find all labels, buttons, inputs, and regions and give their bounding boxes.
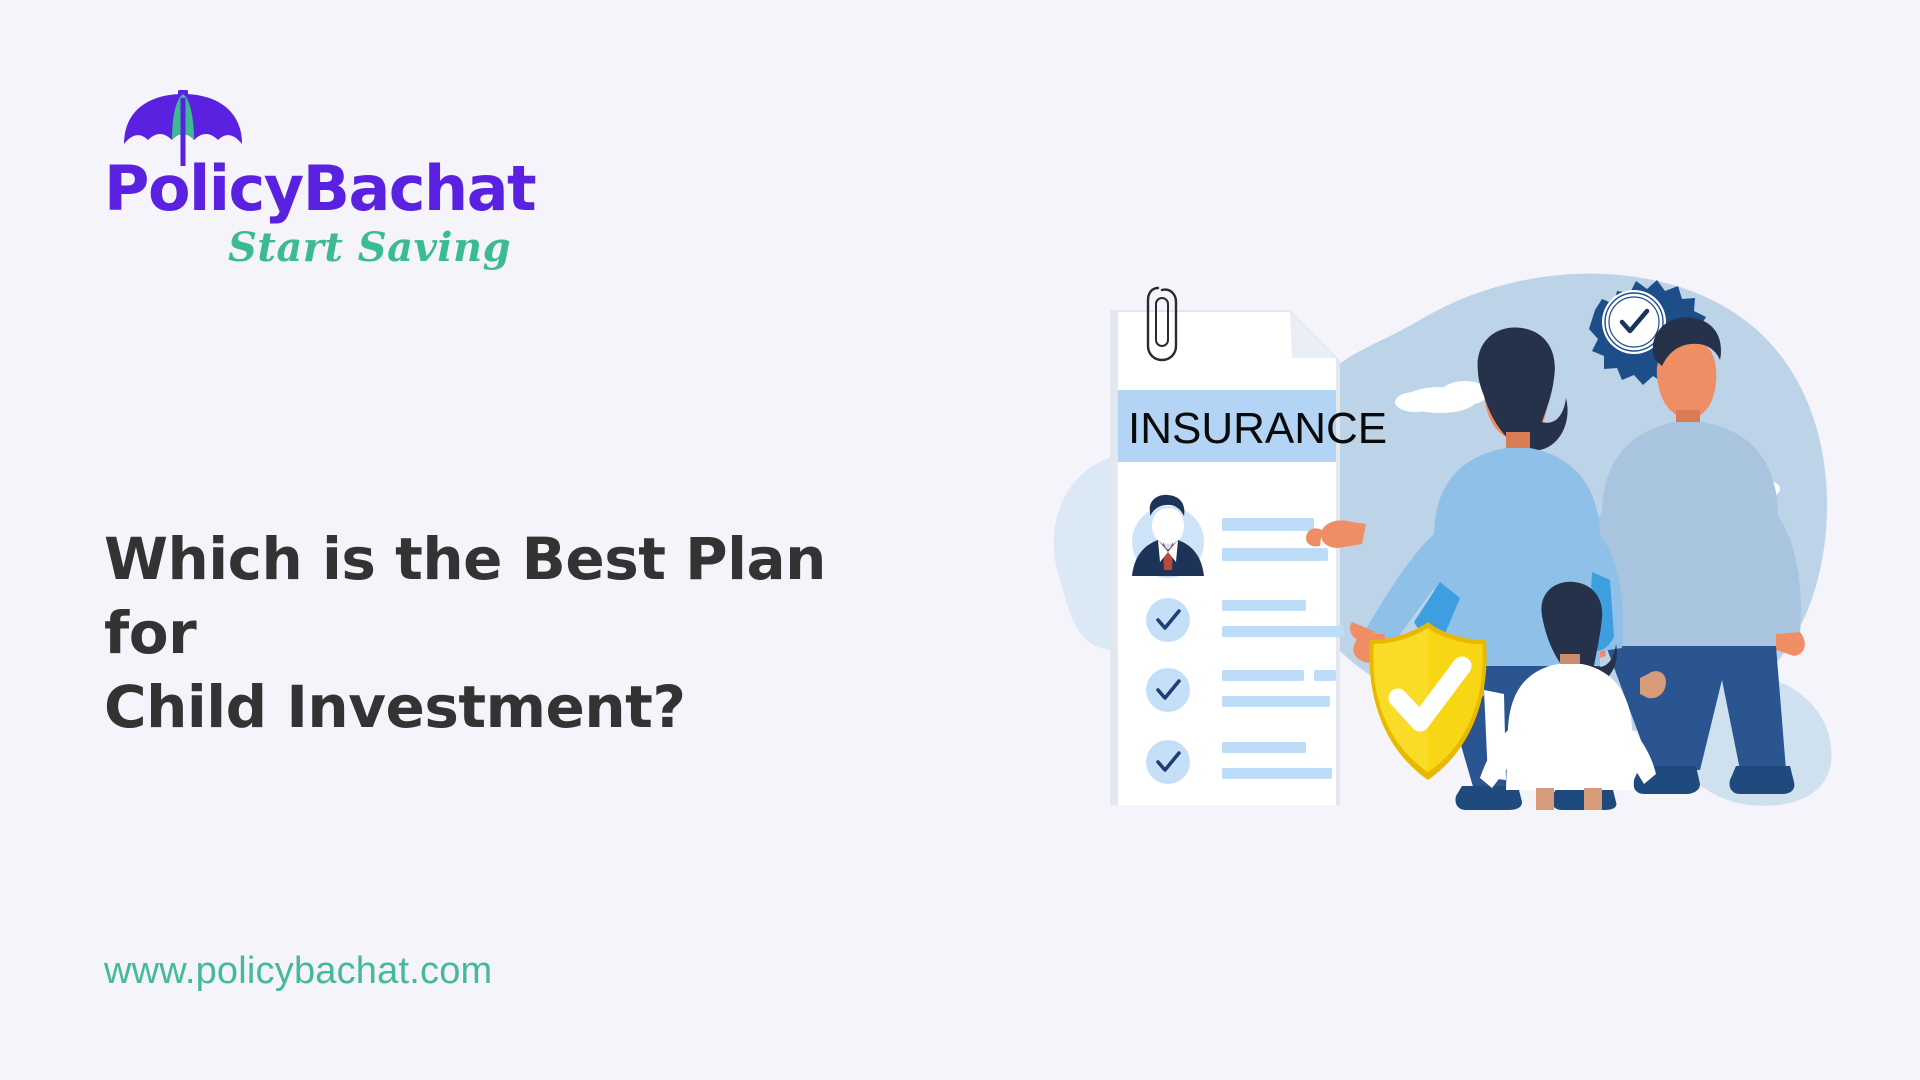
insurance-family-illustration: INSURANCE xyxy=(1000,250,1900,810)
page-title: Which is the Best Plan for Child Investm… xyxy=(104,522,924,745)
brand-wordmark: PolicyBachat xyxy=(104,158,535,220)
brand-tagline: Start Saving xyxy=(228,224,511,271)
headline-line-2: Child Investment? xyxy=(104,673,686,741)
brand-logo[interactable]: PolicyBachat Start Saving xyxy=(104,88,524,278)
website-url[interactable]: www.policybachat.com xyxy=(104,950,492,993)
promotional-banner: PolicyBachat Start Saving Which is the B… xyxy=(0,0,1920,1080)
document-title: INSURANCE xyxy=(1128,404,1387,453)
headline-line-1: Which is the Best Plan for xyxy=(104,525,826,667)
